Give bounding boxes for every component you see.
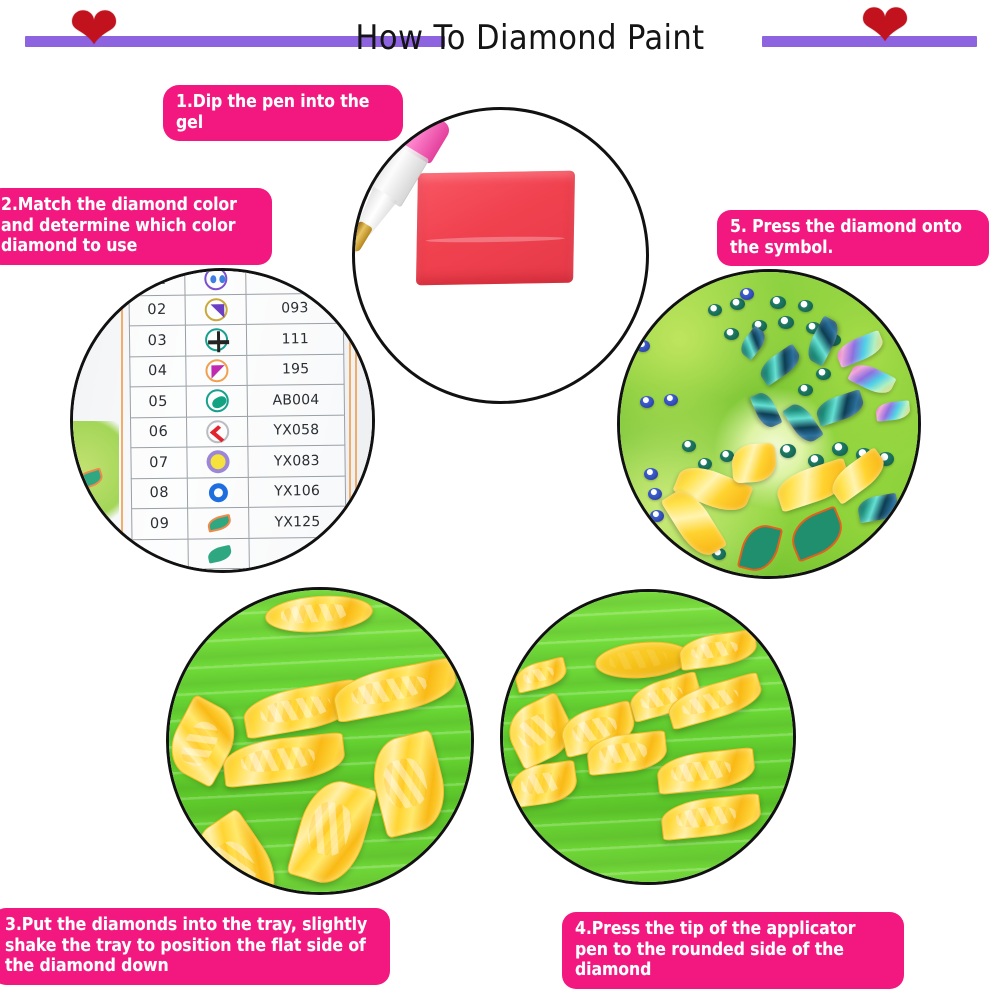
diamond-gem xyxy=(750,389,783,430)
color-chart-table: 01 026 02 093 xyxy=(128,268,347,570)
chart-row-symbol xyxy=(188,538,250,569)
diamond-gem xyxy=(364,729,453,839)
diamond-gem xyxy=(737,326,770,361)
red-chevron-icon xyxy=(206,420,229,443)
heart-icon: ❤ xyxy=(859,4,911,56)
table-row: 09 YX125 xyxy=(132,506,346,539)
chart-row-code: 093 xyxy=(246,293,343,325)
chart-margin-line xyxy=(355,271,357,570)
table-row: 07 YX083 xyxy=(131,445,345,478)
printed-symbol-dot xyxy=(724,328,739,340)
chart-row-number: 02 xyxy=(129,295,185,326)
printed-symbol-dot xyxy=(644,468,658,480)
diamond-gem xyxy=(813,389,866,427)
diamond-gem xyxy=(677,629,759,672)
printed-leaf-symbol xyxy=(737,520,784,575)
table-row: 05 AB004 xyxy=(130,384,344,417)
table-row: 03 111 xyxy=(129,323,343,356)
printed-symbol-dot xyxy=(648,488,662,500)
pen-barrel xyxy=(617,280,649,384)
table-row: 01 026 xyxy=(129,268,343,295)
yellow-disc-icon xyxy=(206,450,229,473)
chart-row-symbol xyxy=(187,477,249,508)
diamond-gem xyxy=(330,657,460,724)
chart-row-number xyxy=(132,539,188,570)
teal-leaf-icon xyxy=(207,542,230,565)
chart-row-code: YX106 xyxy=(249,476,346,508)
diamond-gem-being-placed xyxy=(731,443,778,484)
chart-row-number: 06 xyxy=(131,417,187,448)
printed-symbol-dot xyxy=(780,444,796,458)
chart-row-number: 08 xyxy=(131,478,187,509)
diamond-gem xyxy=(286,773,378,891)
green-diamond-tray xyxy=(169,590,471,892)
chart-row-number: 05 xyxy=(130,386,186,417)
scene-gel-dip xyxy=(355,110,646,401)
chart-margin-line xyxy=(121,271,123,570)
step-3-label: 3.Put the diamonds into the tray, slight… xyxy=(0,908,390,985)
chart-row-code: 026 xyxy=(246,268,343,294)
applicator-pen xyxy=(617,277,654,451)
diamond-gem xyxy=(659,793,762,841)
chart-row-number: 01 xyxy=(129,268,185,295)
gel-pad xyxy=(416,171,575,286)
printed-symbol-dot xyxy=(640,396,654,408)
diamond-gem xyxy=(513,656,570,694)
teal-pill-icon xyxy=(205,389,228,412)
printed-symbol-dot xyxy=(708,304,722,316)
chart-row-code: 111 xyxy=(247,323,344,355)
step-2-label: 2.Match the diamond color and determine … xyxy=(0,188,272,265)
diamond-gem xyxy=(782,399,824,446)
green-diamond-tray xyxy=(503,592,793,882)
chart-row-symbol xyxy=(186,416,248,447)
chart-row-code xyxy=(249,537,346,569)
printed-symbol-dot xyxy=(778,316,794,329)
chart-row-symbol xyxy=(185,355,247,386)
teal-leaf-icon xyxy=(207,511,230,534)
printed-symbol-dot xyxy=(816,368,831,380)
chart-row-number: 03 xyxy=(129,325,185,356)
chart-row-code: YX058 xyxy=(248,415,345,447)
chart-row-code: YX083 xyxy=(248,445,345,477)
printed-leaf-symbol xyxy=(784,505,849,562)
photo-pen-dipping-into-gel xyxy=(352,107,649,404)
magenta-triangle-icon xyxy=(205,359,228,382)
two-blue-dots-icon xyxy=(204,268,227,291)
photo-pen-picking-up-diamond xyxy=(500,589,796,885)
printed-symbol-dot xyxy=(636,340,650,352)
diamond-gem xyxy=(509,760,580,809)
printed-symbol-dot xyxy=(740,288,754,300)
chart-row-number: 07 xyxy=(131,447,187,478)
table-row xyxy=(132,537,346,570)
printed-symbol-dot xyxy=(770,296,786,309)
page-header: ❤ ❤ How To Diamond Paint xyxy=(0,0,1001,72)
printed-symbol-dot xyxy=(832,442,848,456)
photo-diamonds-in-green-tray xyxy=(166,587,474,895)
step-5-label: 5. Press the diamond onto the symbol. xyxy=(717,210,989,266)
chart-row-code: AB004 xyxy=(248,384,345,416)
printed-symbol-dot xyxy=(682,440,696,452)
diamond-gem xyxy=(756,344,805,387)
diamond-gem xyxy=(221,732,347,789)
chart-row-number: 09 xyxy=(132,508,188,539)
chart-row-symbol xyxy=(185,324,247,355)
blue-donut-icon xyxy=(206,481,229,504)
printed-symbol-dot xyxy=(798,300,813,312)
chart-row-symbol xyxy=(187,446,249,477)
printed-symbol-dot xyxy=(730,298,745,310)
printed-symbol-dot xyxy=(664,394,678,406)
page-title: How To Diamond Paint xyxy=(300,18,760,58)
table-row: 02 093 xyxy=(129,293,343,326)
table-row: 04 195 xyxy=(130,354,344,387)
chart-margin-line xyxy=(349,271,351,570)
diamond-gem xyxy=(834,330,887,368)
printed-symbol-dot xyxy=(798,384,813,396)
purple-triangle-icon xyxy=(204,298,227,321)
chart-row-number: 04 xyxy=(130,356,186,387)
photo-color-symbol-chart: 01 026 02 093 xyxy=(70,268,375,573)
step-4-label: 4.Press the tip of the applicator pen to… xyxy=(562,912,904,989)
chart-row-symbol xyxy=(186,385,248,416)
photo-diamond-pressed-onto-canvas xyxy=(617,269,921,579)
chart-row-code: YX125 xyxy=(249,506,346,538)
pen-tip-icon xyxy=(352,221,373,254)
printed-symbol-dot xyxy=(650,510,664,522)
chart-row-symbol xyxy=(185,294,247,325)
diamond-gem xyxy=(264,592,374,635)
chart-row-symbol xyxy=(187,507,249,538)
plus-cross-icon xyxy=(204,328,227,351)
chart-paper: 01 026 02 093 xyxy=(73,271,372,570)
diamond-gem xyxy=(856,493,900,524)
diamond-gem xyxy=(182,808,290,895)
mandala-canvas xyxy=(620,272,918,576)
heart-icon: ❤ xyxy=(68,7,120,59)
table-row: 06 YX058 xyxy=(131,415,345,448)
chart-row-code: 195 xyxy=(247,354,344,386)
diamond-gem xyxy=(655,747,756,795)
diamond-gem xyxy=(875,400,911,421)
chart-row-symbol xyxy=(184,268,246,295)
table-row: 08 YX106 xyxy=(131,476,345,509)
